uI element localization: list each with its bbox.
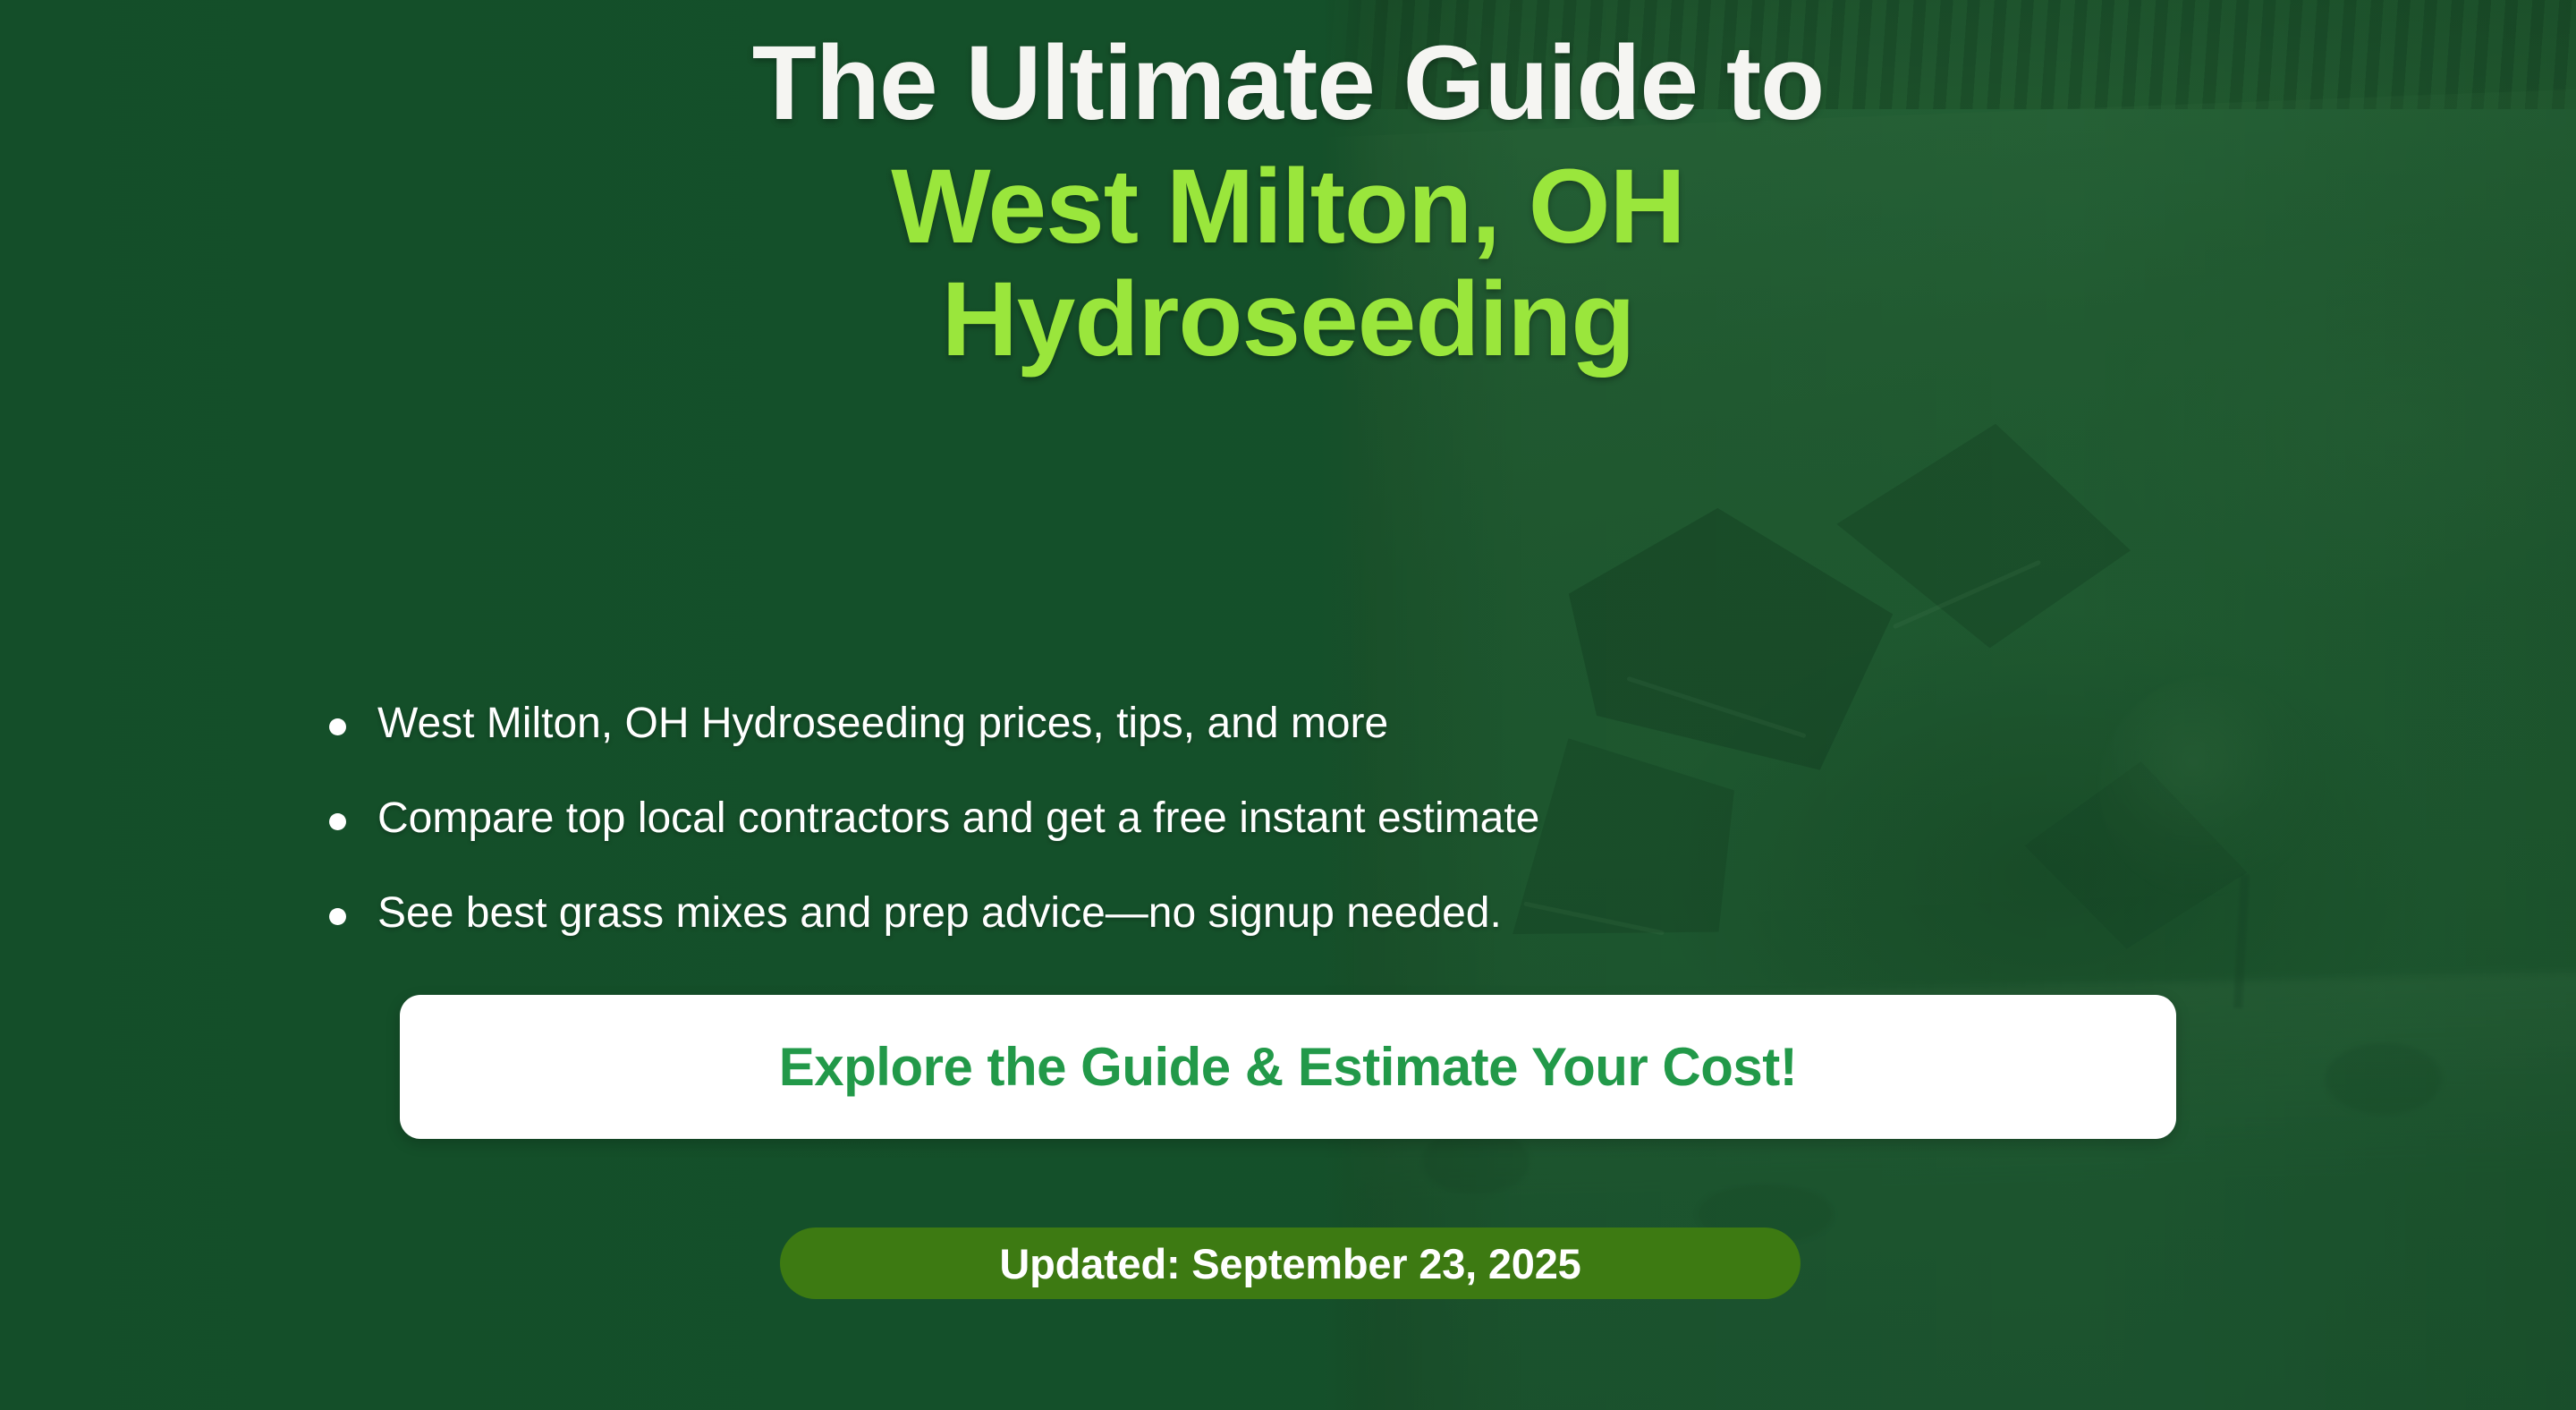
benefit-list: West Milton, OH Hydroseeding prices, tip… bbox=[315, 676, 1539, 961]
bullet-dot-icon bbox=[329, 813, 346, 830]
list-item: See best grass mixes and prep advice—no … bbox=[315, 866, 1539, 961]
headline-line-3: Hydroseeding bbox=[0, 259, 2576, 372]
updated-date-badge: Updated: September 23, 2025 bbox=[780, 1227, 1801, 1299]
list-item-label: Compare top local contractors and get a … bbox=[377, 794, 1539, 842]
bullet-dot-icon bbox=[329, 718, 346, 735]
list-item: West Milton, OH Hydroseeding prices, tip… bbox=[315, 676, 1539, 771]
hero-banner: The Ultimate Guide to West Milton, OH Hy… bbox=[0, 0, 2576, 1410]
headline-line-2: West Milton, OH bbox=[0, 141, 2576, 259]
headline-line-1: The Ultimate Guide to bbox=[0, 30, 2576, 141]
list-item-label: See best grass mixes and prep advice—no … bbox=[377, 889, 1502, 937]
explore-guide-button[interactable]: Explore the Guide & Estimate Your Cost! bbox=[400, 995, 2176, 1139]
bullet-dot-icon bbox=[329, 908, 346, 925]
list-item-label: West Milton, OH Hydroseeding prices, tip… bbox=[377, 700, 1388, 747]
list-item: Compare top local contractors and get a … bbox=[315, 771, 1539, 866]
hero-content: The Ultimate Guide to West Milton, OH Hy… bbox=[0, 0, 2576, 1410]
page-title: The Ultimate Guide to West Milton, OH Hy… bbox=[0, 30, 2576, 372]
